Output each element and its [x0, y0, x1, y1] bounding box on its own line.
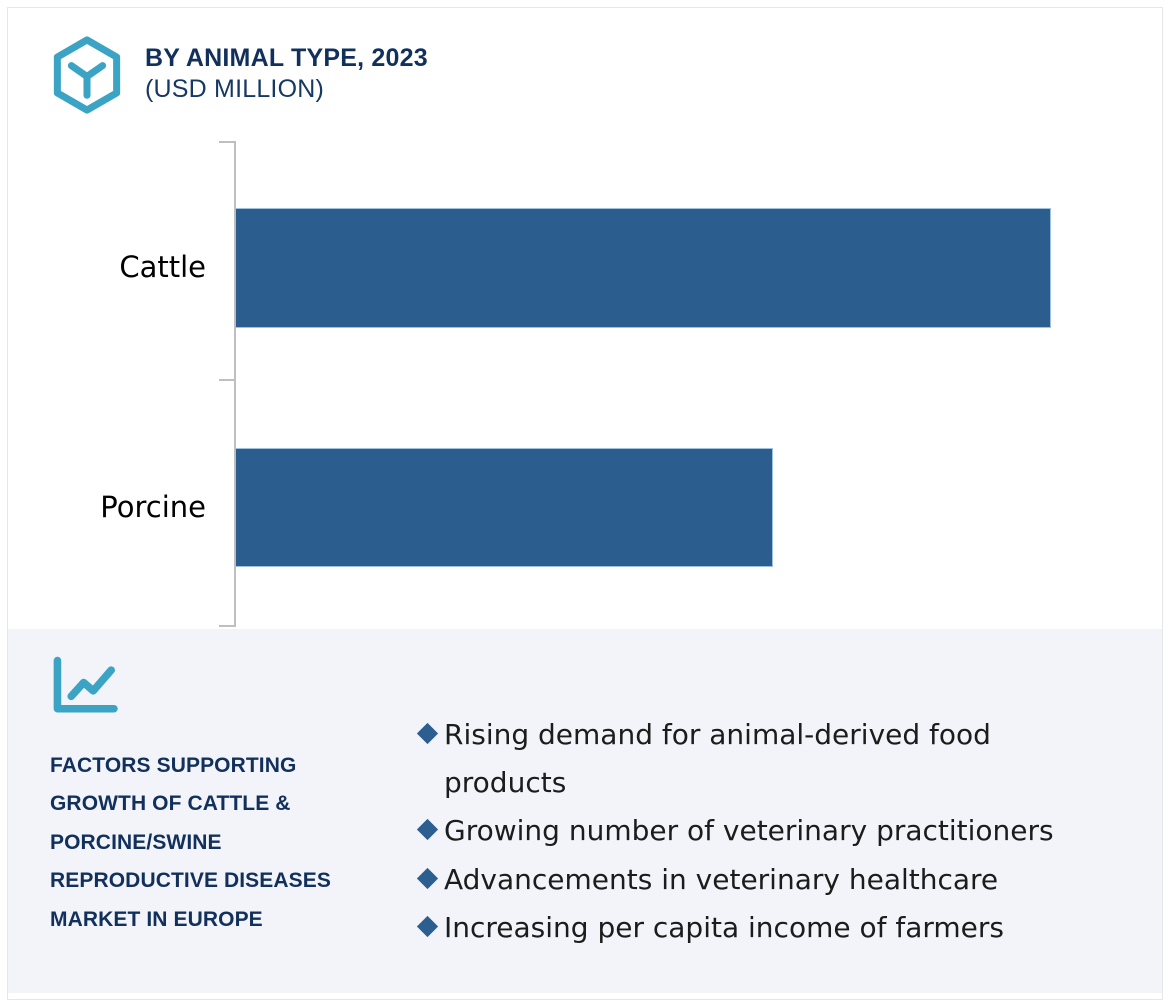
- factors-panel-heading: FACTORS SUPPORTING GROWTH OF CATTLE & PO…: [50, 747, 380, 939]
- hexagon-y-icon: [48, 36, 126, 114]
- line-chart-icon: [50, 655, 120, 717]
- list-item-label: Rising demand for animal-derived food pr…: [444, 711, 1104, 806]
- axis-tick-top: [219, 141, 235, 143]
- bar-cattle[interactable]: [235, 208, 1051, 328]
- diamond-bullet-icon: [417, 723, 438, 744]
- page-title: BY ANIMAL TYPE, 2023: [145, 43, 428, 74]
- page-subtitle: (USD MILLION): [145, 74, 428, 105]
- factors-list: Rising demand for animal-derived food pr…: [420, 711, 1138, 953]
- list-item-label: Advancements in veterinary healthcare: [444, 856, 998, 904]
- diamond-bullet-icon: [417, 868, 438, 889]
- infographic-card: BY ANIMAL TYPE, 2023 (USD MILLION) Cattl…: [7, 7, 1163, 1000]
- bar-porcine[interactable]: [235, 448, 773, 567]
- axis-tick-bottom: [219, 625, 235, 627]
- list-item: Rising demand for animal-derived food pr…: [420, 711, 1138, 806]
- factors-panel-left: FACTORS SUPPORTING GROWTH OF CATTLE & PO…: [50, 655, 380, 939]
- axis-tick-middle: [219, 379, 235, 381]
- factors-panel: FACTORS SUPPORTING GROWTH OF CATTLE & PO…: [8, 629, 1162, 993]
- bar-label-porcine: Porcine: [8, 490, 206, 524]
- list-item-label: Growing number of veterinary practitione…: [444, 807, 1054, 855]
- header-text-block: BY ANIMAL TYPE, 2023 (USD MILLION): [145, 43, 428, 104]
- list-item: Advancements in veterinary healthcare: [420, 856, 1138, 904]
- bar-label-cattle: Cattle: [8, 250, 206, 284]
- diamond-bullet-icon: [417, 916, 438, 937]
- bar-chart: Cattle Porcine: [8, 128, 1162, 628]
- list-item: Increasing per capita income of farmers: [420, 904, 1138, 952]
- list-item-label: Increasing per capita income of farmers: [444, 904, 1004, 952]
- diamond-bullet-icon: [417, 819, 438, 840]
- chart-header: BY ANIMAL TYPE, 2023 (USD MILLION): [48, 34, 428, 114]
- list-item: Growing number of veterinary practitione…: [420, 807, 1138, 855]
